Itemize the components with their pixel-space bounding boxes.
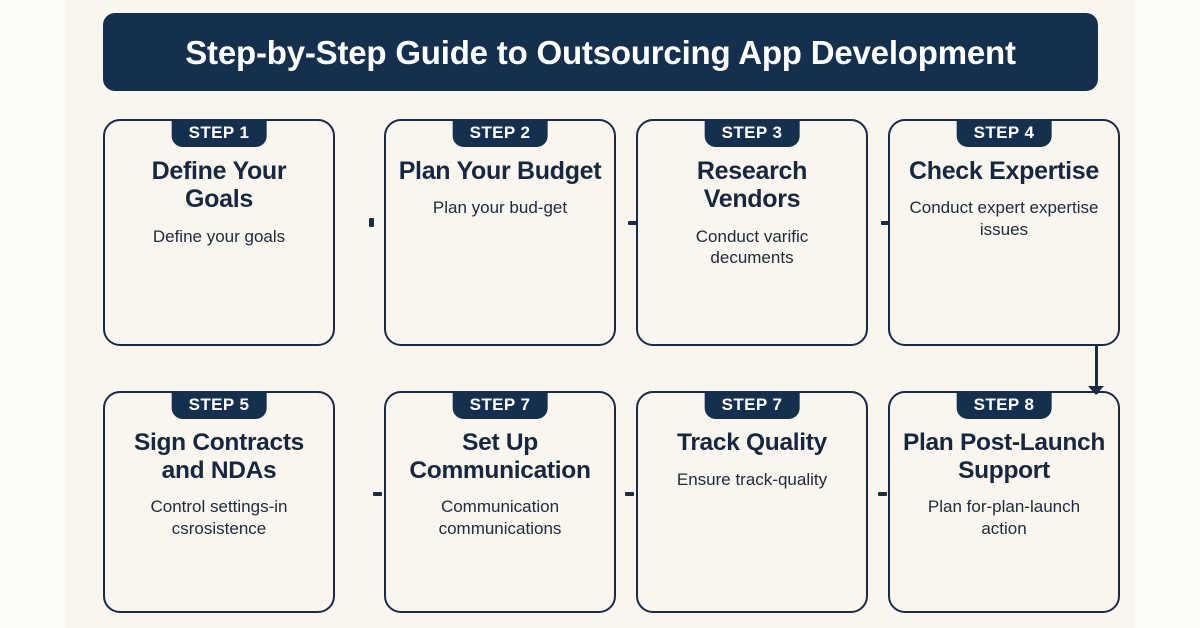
step-badge-2: STEP 2 bbox=[453, 119, 548, 147]
step-card-5-content: STEP 5 Sign Contracts and NDAs Control s… bbox=[105, 393, 333, 611]
step-badge-3: STEP 3 bbox=[705, 119, 800, 147]
step-badge-5: STEP 5 bbox=[172, 391, 267, 419]
steps-grid: STEP 1 Define Your Goals Define your goa… bbox=[103, 116, 1098, 616]
step-title-6: Set Up Communication bbox=[396, 429, 604, 484]
step-card-6[interactable]: STEP 7 Set Up Communication Communicatio… bbox=[384, 391, 616, 613]
step-badge-6: STEP 7 bbox=[453, 391, 548, 419]
step-title-7: Track Quality bbox=[648, 429, 856, 457]
connector-arrow-icon-1-2 bbox=[369, 218, 374, 227]
header-banner: Step-by-Step Guide to Outsourcing App De… bbox=[103, 13, 1098, 91]
step-card-3[interactable]: STEP 3 Research Vendors Conduct varific … bbox=[636, 119, 868, 346]
step-card-8-content: STEP 8 Plan Post-Launch Support Plan for… bbox=[890, 393, 1118, 611]
step-title-4: Check Expertise bbox=[900, 157, 1108, 185]
step-card-6-content: STEP 7 Set Up Communication Communicatio… bbox=[386, 393, 614, 611]
step-card-5[interactable]: STEP 5 Sign Contracts and NDAs Control s… bbox=[103, 391, 335, 613]
infographic-canvas: Step-by-Step Guide to Outsourcing App De… bbox=[0, 0, 1200, 628]
step-card-2[interactable]: STEP 2 Plan Your Budget Plan your bud-ge… bbox=[384, 119, 616, 346]
connector-arrow-icon-7-8 bbox=[878, 492, 887, 496]
step-card-7[interactable]: STEP 7 Track Quality Ensure track-qualit… bbox=[636, 391, 868, 613]
step-description-5: Control settings-in csrosistence bbox=[115, 496, 323, 540]
connector-arrow-icon-6-7 bbox=[625, 492, 634, 496]
step-description-6: Communication communications bbox=[396, 496, 604, 540]
step-card-1-content: STEP 1 Define Your Goals Define your goa… bbox=[105, 121, 333, 344]
step-card-2-content: STEP 2 Plan Your Budget Plan your bud-ge… bbox=[386, 121, 614, 344]
step-card-1[interactable]: STEP 1 Define Your Goals Define your goa… bbox=[103, 119, 335, 346]
step-description-8: Plan for-plan-launch action bbox=[900, 496, 1108, 540]
page-title: Step-by-Step Guide to Outsourcing App De… bbox=[185, 36, 1016, 69]
step-title-8: Plan Post-Launch Support bbox=[900, 429, 1108, 484]
connector-arrow-icon-2-3 bbox=[628, 221, 637, 225]
step-title-1: Define Your Goals bbox=[115, 157, 323, 214]
step-badge-8: STEP 8 bbox=[957, 391, 1052, 419]
step-card-3-content: STEP 3 Research Vendors Conduct varific … bbox=[638, 121, 866, 344]
step-description-7: Ensure track-quality bbox=[648, 469, 856, 491]
step-description-2: Plan your bud-get bbox=[396, 197, 604, 219]
step-description-1: Define your goals bbox=[115, 226, 323, 248]
step-description-3: Conduct varific decuments bbox=[648, 226, 856, 270]
step-title-3: Research Vendors bbox=[648, 157, 856, 214]
step-badge-1: STEP 1 bbox=[172, 119, 267, 147]
step-badge-7: STEP 7 bbox=[705, 391, 800, 419]
step-card-8[interactable]: STEP 8 Plan Post-Launch Support Plan for… bbox=[888, 391, 1120, 613]
step-description-4: Conduct expert expertise issues bbox=[900, 197, 1108, 241]
connector-arrow-down-icon bbox=[1088, 386, 1104, 395]
connector-arrow-icon-3-4 bbox=[881, 221, 890, 225]
step-title-5: Sign Contracts and NDAs bbox=[115, 429, 323, 484]
step-badge-4: STEP 4 bbox=[957, 119, 1052, 147]
step-title-2: Plan Your Budget bbox=[396, 157, 604, 185]
step-card-4-content: STEP 4 Check Expertise Conduct expert ex… bbox=[890, 121, 1118, 344]
step-card-4[interactable]: STEP 4 Check Expertise Conduct expert ex… bbox=[888, 119, 1120, 346]
step-card-7-content: STEP 7 Track Quality Ensure track-qualit… bbox=[638, 393, 866, 611]
connector-arrow-icon-5-6 bbox=[373, 492, 382, 496]
